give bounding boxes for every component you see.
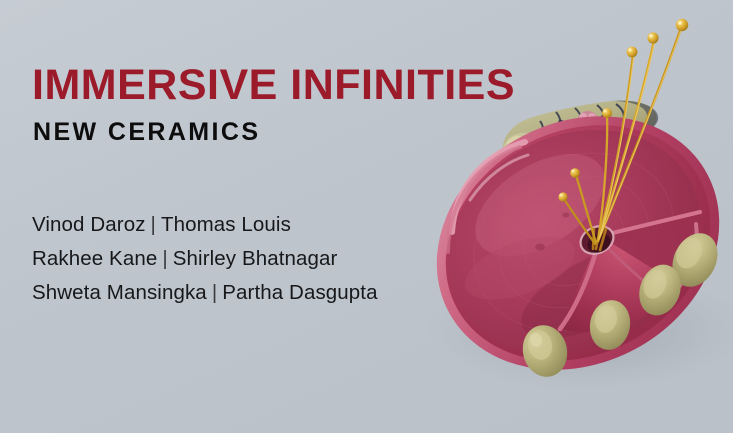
page-subtitle: NEW CERAMICS xyxy=(33,120,515,145)
artist-name: Partha Dasgupta xyxy=(222,281,377,304)
artist-name: Rakhee Kane xyxy=(32,247,157,270)
artist-line: Vinod Daroz|Thomas Louis xyxy=(32,208,378,242)
artist-separator: | xyxy=(157,242,172,276)
title-block: IMMERSIVE INFINITIES NEW CERAMICS xyxy=(32,64,515,145)
artist-name: Vinod Daroz xyxy=(32,213,146,236)
artist-list: Vinod Daroz|Thomas Louis Rakhee Kane|Shi… xyxy=(32,208,378,310)
artist-separator: | xyxy=(207,276,222,310)
artist-line: Shweta Mansingka|Partha Dasgupta xyxy=(32,276,378,310)
artist-name: Thomas Louis xyxy=(161,213,291,236)
artist-name: Shweta Mansingka xyxy=(32,281,207,304)
artist-line: Rakhee Kane|Shirley Bhatnagar xyxy=(32,242,378,276)
artist-separator: | xyxy=(146,208,161,242)
artist-name: Shirley Bhatnagar xyxy=(173,247,338,270)
page-title: IMMERSIVE INFINITIES xyxy=(32,64,515,107)
exhibition-poster: IMMERSIVE INFINITIES NEW CERAMICS Vinod … xyxy=(0,0,733,433)
